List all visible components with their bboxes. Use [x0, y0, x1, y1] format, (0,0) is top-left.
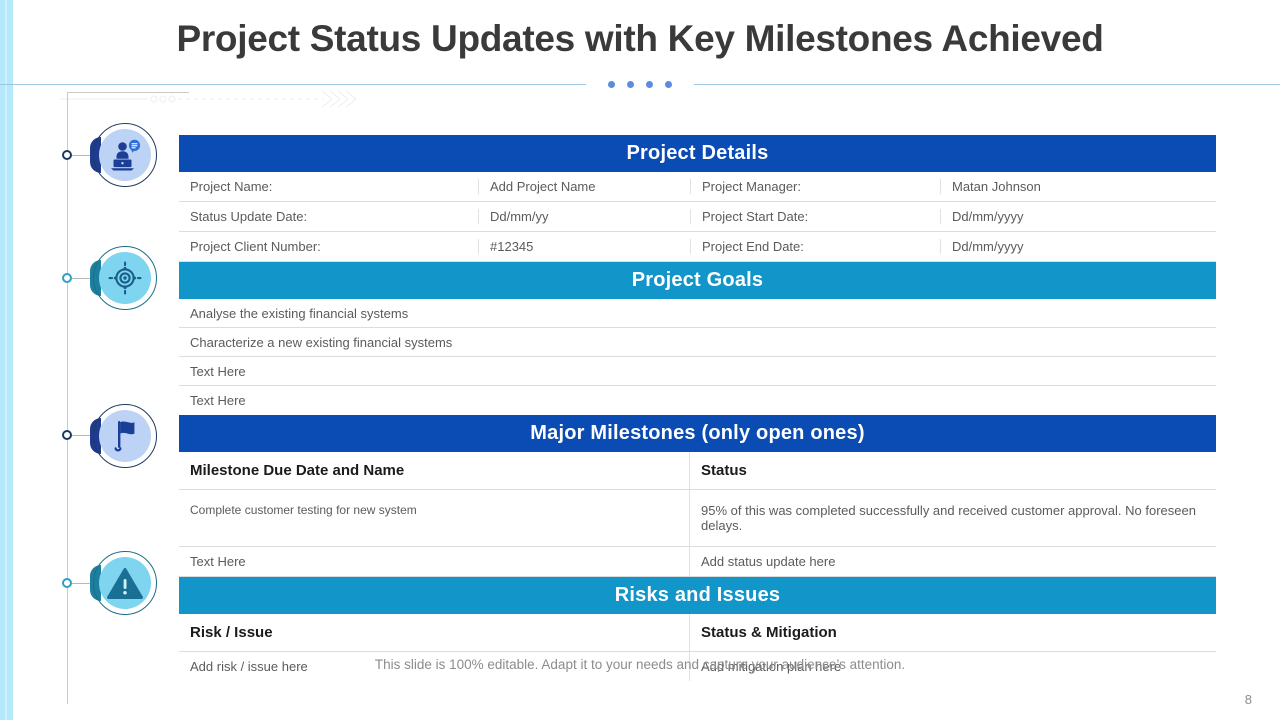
- detail-label: Project End Date:: [690, 239, 940, 254]
- milestone-status[interactable]: Add status update here: [689, 547, 1216, 576]
- milestone-name[interactable]: Text Here: [179, 547, 689, 576]
- column-header-risk: Risk / Issue: [179, 614, 689, 651]
- section-header-major-milestones: Major Milestones (only open ones): [179, 415, 1216, 452]
- timeline-node-4: [62, 578, 72, 588]
- column-header-status: Status: [689, 452, 1216, 489]
- timeline-node-2: [62, 273, 72, 283]
- detail-value[interactable]: #12345: [478, 239, 690, 254]
- list-item[interactable]: Analyse the existing financial systems: [179, 299, 1216, 328]
- column-header-mitigation: Status & Mitigation: [689, 614, 1216, 651]
- dashed-arrow-decoration: [60, 86, 360, 116]
- detail-value[interactable]: Add Project Name: [478, 179, 690, 194]
- timeline-rail-top-branch: [67, 92, 189, 93]
- table-row: Text Here Add status update here: [179, 547, 1216, 577]
- column-header-milestone: Milestone Due Date and Name: [179, 452, 689, 489]
- badge-major-milestones[interactable]: [93, 404, 157, 468]
- badge-project-goals[interactable]: [93, 246, 157, 310]
- detail-label: Project Start Date:: [690, 209, 940, 224]
- title-dot-ornament: [586, 80, 694, 89]
- detail-label: Project Manager:: [690, 179, 940, 194]
- list-item[interactable]: Text Here: [179, 386, 1216, 415]
- left-edge-decoration: [0, 0, 13, 720]
- milestone-name[interactable]: Complete customer testing for new system: [179, 490, 689, 546]
- list-item[interactable]: Characterize a new existing financial sy…: [179, 328, 1216, 357]
- person-laptop-chat-icon: [99, 129, 151, 181]
- dashed-arrow-svg: [60, 86, 360, 116]
- table-row: Complete customer testing for new system…: [179, 490, 1216, 547]
- footer-note: This slide is 100% editable. Adapt it to…: [0, 657, 1280, 672]
- section-header-risks-and-issues: Risks and Issues: [179, 577, 1216, 614]
- warning-triangle-icon: [99, 557, 151, 609]
- timeline-node-1: [62, 150, 72, 160]
- status-panel: Project Details Project Name: Add Projec…: [179, 135, 1216, 681]
- ornament-dot-1: [608, 81, 615, 88]
- list-item[interactable]: Text Here: [179, 357, 1216, 386]
- table-header-row: Risk / Issue Status & Mitigation: [179, 614, 1216, 652]
- left-edge-inner-line: [5, 0, 7, 720]
- ornament-dot-4: [665, 81, 672, 88]
- section-header-project-details: Project Details: [179, 135, 1216, 172]
- table-row: Project Client Number: #12345 Project En…: [179, 232, 1216, 262]
- page-number: 8: [1245, 692, 1252, 707]
- detail-value[interactable]: Matan Johnson: [940, 179, 1216, 194]
- flag-icon: [99, 410, 151, 462]
- target-crosshair-icon: [99, 252, 151, 304]
- detail-label: Project Name:: [179, 179, 478, 194]
- detail-value[interactable]: Dd/mm/yy: [478, 209, 690, 224]
- detail-value[interactable]: Dd/mm/yyyy: [940, 239, 1216, 254]
- detail-value[interactable]: Dd/mm/yyyy: [940, 209, 1216, 224]
- detail-label: Status Update Date:: [179, 209, 478, 224]
- table-header-row: Milestone Due Date and Name Status: [179, 452, 1216, 490]
- slide-header: Project Status Updates with Key Mileston…: [0, 0, 1280, 85]
- timeline-rail: [67, 92, 68, 704]
- ornament-dot-2: [627, 81, 634, 88]
- detail-label: Project Client Number:: [179, 239, 478, 254]
- ornament-dot-3: [646, 81, 653, 88]
- page-title: Project Status Updates with Key Mileston…: [0, 18, 1280, 60]
- section-header-project-goals: Project Goals: [179, 262, 1216, 299]
- milestone-status[interactable]: 95% of this was completed successfully a…: [689, 490, 1216, 546]
- table-row: Project Name: Add Project Name Project M…: [179, 172, 1216, 202]
- badge-project-details[interactable]: [93, 123, 157, 187]
- table-row: Status Update Date: Dd/mm/yy Project Sta…: [179, 202, 1216, 232]
- badge-risks-and-issues[interactable]: [93, 551, 157, 615]
- timeline-node-3: [62, 430, 72, 440]
